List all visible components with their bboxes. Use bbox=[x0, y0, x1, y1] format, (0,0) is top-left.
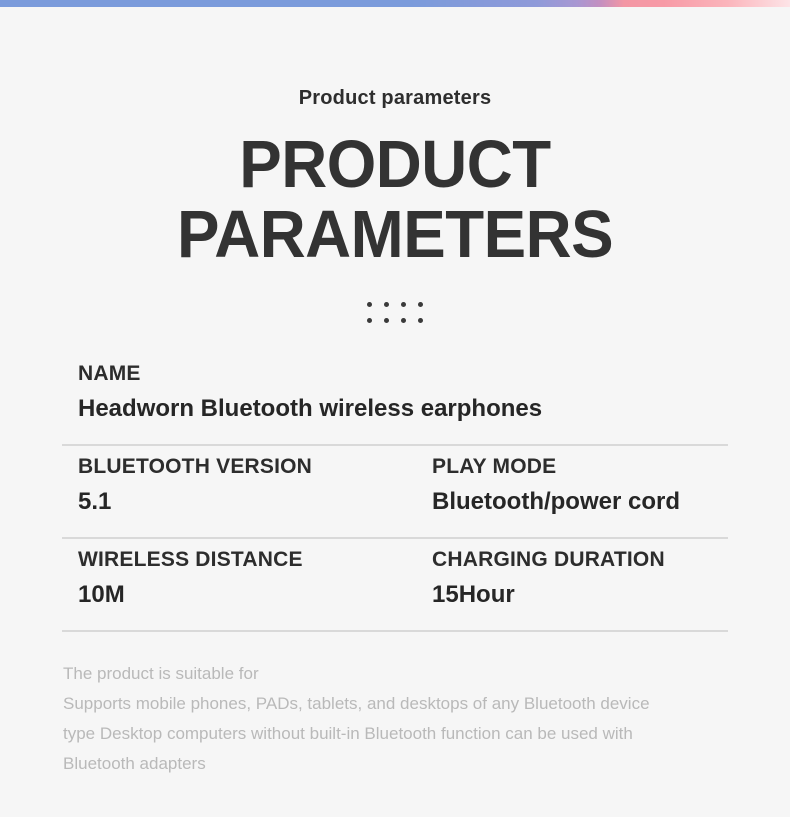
spec-cell: NAME Headworn Bluetooth wireless earphon… bbox=[78, 361, 728, 424]
note-line: The product is suitable for bbox=[63, 659, 735, 689]
spec-value: 10M bbox=[78, 580, 432, 610]
dot-icon bbox=[418, 318, 423, 323]
spec-value: 15Hour bbox=[432, 580, 786, 610]
note-line: Supports mobile phones, PADs, tablets, a… bbox=[63, 689, 735, 719]
spec-cell: WIRELESS DISTANCE 10M bbox=[78, 547, 432, 610]
note-line: Bluetooth adapters bbox=[63, 749, 735, 779]
table-row: NAME Headworn Bluetooth wireless earphon… bbox=[62, 353, 728, 446]
spec-cell: CHARGING DURATION 15Hour bbox=[432, 547, 786, 610]
compatibility-note: The product is suitable for Supports mob… bbox=[55, 659, 735, 779]
dot-icon bbox=[384, 302, 389, 307]
spec-label: PLAY MODE bbox=[432, 454, 786, 480]
table-row: BLUETOOTH VERSION 5.1 PLAY MODE Bluetoot… bbox=[62, 446, 728, 539]
dot-icon bbox=[401, 302, 406, 307]
spec-value: Bluetooth/power cord bbox=[432, 487, 786, 517]
spec-cell: BLUETOOTH VERSION 5.1 bbox=[78, 454, 432, 517]
spec-value: 5.1 bbox=[78, 487, 432, 517]
spec-table: NAME Headworn Bluetooth wireless earphon… bbox=[62, 353, 728, 633]
dot-icon bbox=[418, 302, 423, 307]
spec-label: NAME bbox=[78, 361, 728, 387]
dot-icon bbox=[384, 318, 389, 323]
note-line: type Desktop computers without built-in … bbox=[63, 719, 735, 749]
dot-icon bbox=[367, 318, 372, 323]
page-title: PRODUCT PARAMETERS bbox=[20, 130, 771, 271]
eyebrow-text: Product parameters bbox=[0, 88, 790, 108]
spec-cell: PLAY MODE Bluetooth/power cord bbox=[432, 454, 786, 517]
spec-value: Headworn Bluetooth wireless earphones bbox=[78, 394, 728, 424]
spec-label: CHARGING DURATION bbox=[432, 547, 786, 573]
table-row: WIRELESS DISTANCE 10M CHARGING DURATION … bbox=[62, 539, 728, 632]
top-gradient-bar bbox=[0, 0, 790, 7]
page-header: Product parameters PRODUCT PARAMETERS bbox=[0, 0, 790, 271]
spec-label: WIRELESS DISTANCE bbox=[78, 547, 432, 573]
dot-icon bbox=[367, 302, 372, 307]
dot-grid-decoration bbox=[361, 297, 430, 329]
spec-label: BLUETOOTH VERSION bbox=[78, 454, 432, 480]
dot-icon bbox=[401, 318, 406, 323]
